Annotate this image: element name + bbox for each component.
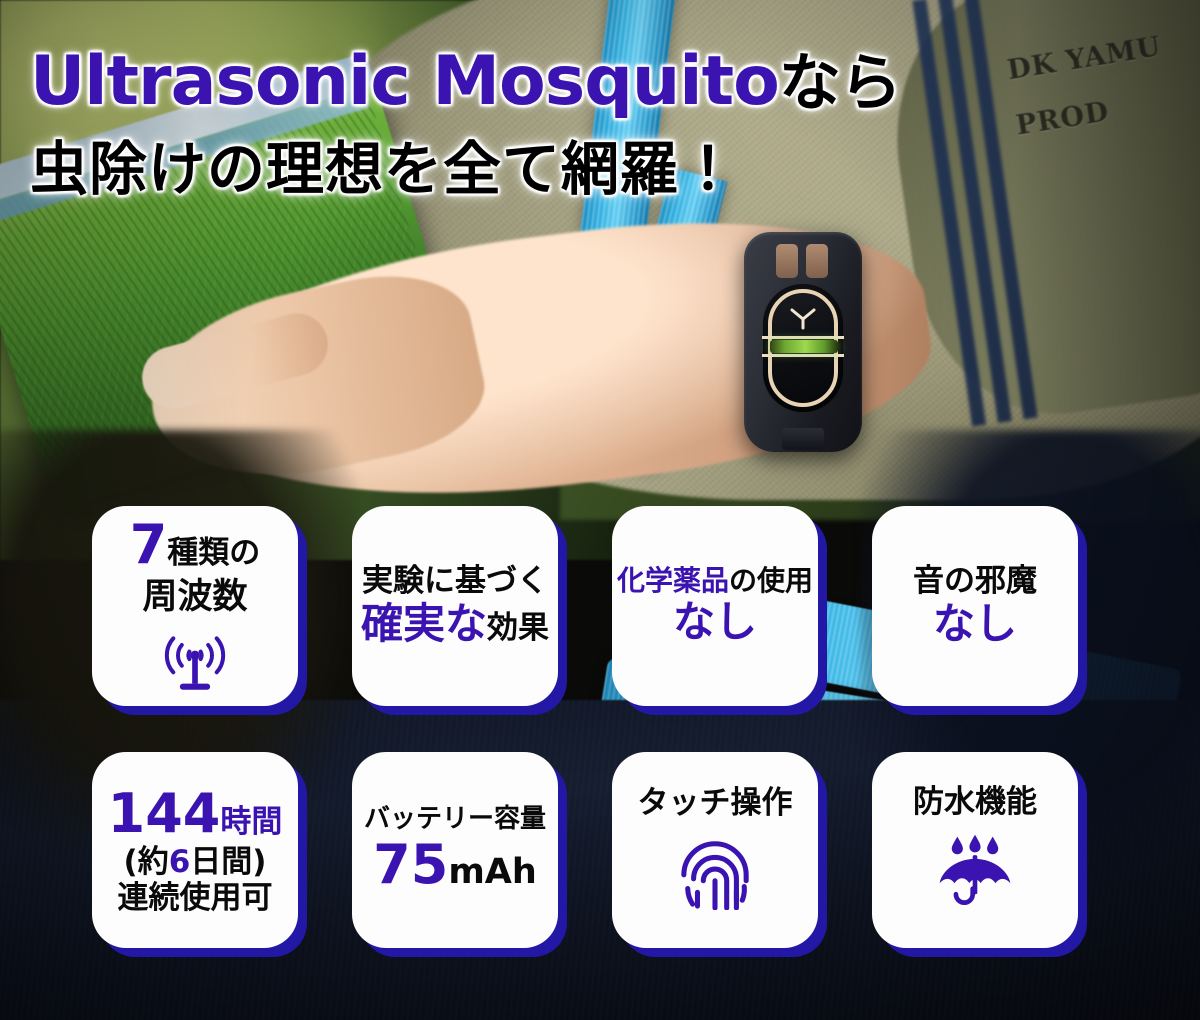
feature-text-line: 実験に基づく <box>362 564 548 600</box>
feature-card-touch-control: タッチ操作 <box>612 752 818 948</box>
feature-text-line: なし <box>673 598 757 647</box>
wristband-device <box>744 232 862 452</box>
brand-name: Ultrasonic Mosquito <box>30 42 779 121</box>
feature-text-segment: 75 <box>373 833 448 896</box>
feature-text-segment: 効果 <box>487 610 549 646</box>
feature-text-segment: の使用 <box>729 564 813 597</box>
device-clasp <box>782 428 824 450</box>
headline-block: Ultrasonic Mosquitoなら 虫除けの理想を全て網羅！ <box>30 48 930 206</box>
headline-subtitle: 虫除けの理想を全て網羅！ <box>30 122 930 206</box>
device-y-logo <box>790 308 816 330</box>
device-strap-holes <box>776 244 828 278</box>
feature-text-line: (約6日間) <box>124 845 267 881</box>
headline-line-1: Ultrasonic Mosquitoなら <box>30 48 930 116</box>
feature-text-line: タッチ操作 <box>638 786 793 822</box>
feature-text-segment: 確実な <box>361 599 487 648</box>
feature-text-segment: なし <box>933 599 1017 648</box>
strap-hole-1 <box>776 244 798 278</box>
feature-card-no-noise: 音の邪魔なし <box>872 506 1078 706</box>
feature-text-line: 周波数 <box>142 577 247 618</box>
device-led-indicator <box>770 340 838 353</box>
strap-hole-2 <box>806 244 828 278</box>
feature-text-segment: バッテリー容量 <box>364 804 546 834</box>
feature-text-segment: 時間 <box>220 804 282 840</box>
feature-text-segment: 化学薬品 <box>617 564 729 597</box>
feature-text-segment: 連続使用可 <box>118 880 273 916</box>
feature-text-segment: 7 <box>130 513 168 576</box>
feature-text-segment: (約 <box>124 844 169 880</box>
feature-text-line: 音の邪魔 <box>913 564 1037 600</box>
feature-text-line: 確実な効果 <box>361 600 549 649</box>
feature-text-line: 144時間 <box>108 783 283 846</box>
feature-text-segment: mAh <box>448 852 536 892</box>
feature-text-segment: 音の邪魔 <box>913 563 1037 599</box>
feature-text-segment: 周波数 <box>142 577 247 617</box>
feature-card-frequency-count: 7種類の周波数 <box>92 506 298 706</box>
feature-text-segment: 日間) <box>190 844 266 880</box>
feature-card-battery-life: 144時間(約6日間)連続使用可 <box>92 752 298 948</box>
feature-text-segment: 種類の <box>167 535 260 571</box>
feature-text-line: なし <box>933 600 1017 649</box>
feature-text-segment: 144 <box>108 782 221 845</box>
brand-suffix: なら <box>779 46 901 119</box>
fingerprint-icon <box>678 832 752 914</box>
feature-text-segment: 6 <box>169 844 191 880</box>
feature-text-line: 化学薬品の使用 <box>617 565 813 597</box>
promo-banner: DK YAMU PROD <box>0 0 1200 1020</box>
feature-text-segment: 実験に基づく <box>362 563 548 599</box>
feature-text-line: 75mAh <box>373 834 537 897</box>
umbrella-rain-icon <box>935 831 1015 915</box>
broadcast-signal-icon <box>160 628 230 698</box>
feature-card-no-chemicals: 化学薬品の使用なし <box>612 506 818 706</box>
feature-text-line: 防水機能 <box>913 785 1037 821</box>
feature-card-waterproof: 防水機能 <box>872 752 1078 948</box>
feature-text-segment: なし <box>673 597 757 646</box>
feature-text-line: バッテリー容量 <box>364 804 546 834</box>
feature-text-segment: タッチ操作 <box>638 785 793 821</box>
feature-card-proven-effect: 実験に基づく確実な効果 <box>352 506 558 706</box>
feature-text-segment: 防水機能 <box>913 784 1037 820</box>
feature-card-grid: 7種類の周波数 実験に基づく確実な効果化学薬品の使用なし音の邪魔なし144時間(… <box>92 506 1108 948</box>
feature-text-line: 連続使用可 <box>118 881 273 917</box>
feature-text-line: 7種類の <box>130 514 261 577</box>
feature-card-battery-capacity: バッテリー容量75mAh <box>352 752 558 948</box>
